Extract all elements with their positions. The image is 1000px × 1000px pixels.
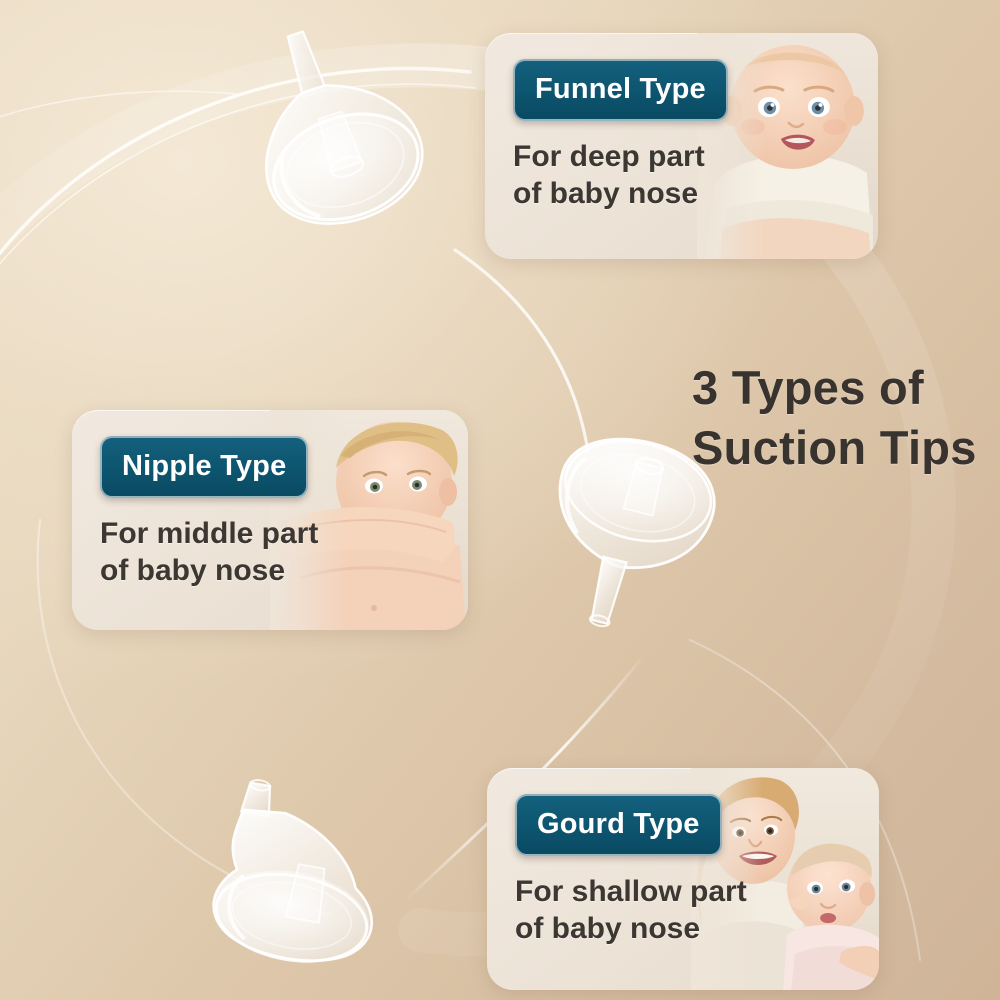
product-infographic-poster: Funnel Type For deep part of baby nose [0, 0, 1000, 1000]
funnel-suction-tip [232, 18, 442, 248]
description-funnel-type: For deep part of baby nose [513, 139, 878, 212]
description-gourd-type: For shallow part of baby nose [515, 874, 879, 947]
card-funnel-body: Funnel Type For deep part of baby nose [485, 33, 878, 212]
badge-funnel-type[interactable]: Funnel Type [513, 59, 728, 121]
card-gourd-body: Gourd Type For shallow part of baby nose [487, 768, 879, 947]
swoosh-flick-left [0, 91, 236, 120]
nipple-suction-tip [196, 786, 396, 976]
page-title: 3 Types of Suction Tips [692, 358, 992, 478]
card-funnel-type[interactable]: Funnel Type For deep part of baby nose [485, 33, 878, 259]
swoosh-arc-top-left-thin [0, 84, 476, 352]
description-nipple-type: For middle part of baby nose [100, 516, 468, 589]
card-nipple-body: Nipple Type For middle part of baby nose [72, 410, 468, 589]
card-gourd-type[interactable]: Gourd Type For shallow part of baby nose [487, 768, 879, 990]
badge-nipple-type[interactable]: Nipple Type [100, 436, 308, 498]
badge-gourd-type[interactable]: Gourd Type [515, 794, 722, 856]
card-nipple-type[interactable]: Nipple Type For middle part of baby nose [72, 410, 468, 630]
swoosh-arc-middle [455, 250, 588, 452]
swoosh-arc-top-left [0, 69, 470, 330]
